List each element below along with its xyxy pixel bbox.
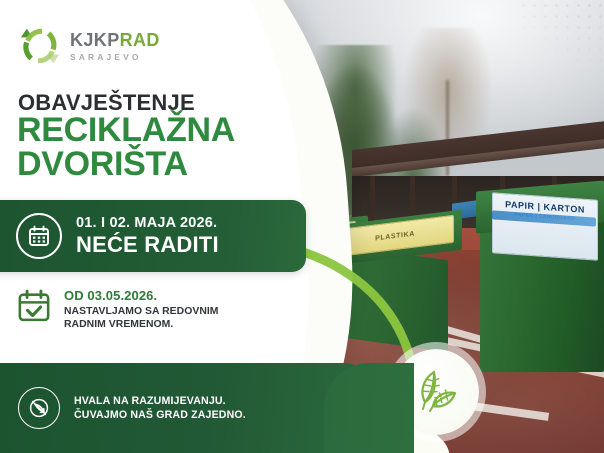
reopening-note-line1: NASTAVLJAMO SA REDOVNIM [64,306,219,319]
brand-city: SARAJEVO [70,53,160,62]
closure-status: NEĆE RADITI [76,233,219,256]
thanks-bar-text: HVALA NA RAZUMIJEVANJU. ČUVAJMO NAŠ GRAD… [74,394,246,423]
recycle-arrows-icon [18,24,62,68]
page-title: RECIKLAŽNA DVORIŠTA [17,114,235,181]
closure-banner-text: 01. I 02. MAJA 2026. NEĆE RADITI [76,216,219,256]
thanks-line2: ČUVAJMO NAŠ GRAD ZAJEDNO. [74,408,246,422]
container-label-plastika-text: PLASTIKA [375,230,415,242]
thanks-bar: HVALA NA RAZUMIJEVANJU. ČUVAJMO NAŠ GRAD… [0,363,370,453]
closure-dates: 01. I 02. MAJA 2026. [76,216,219,231]
calendar-check-icon [16,288,52,324]
page-title-line2: DVORIŠTA [17,148,235,182]
no-waste-circle-icon [18,387,60,429]
reopening-note-line2: RADNIM VREMENOM. [64,319,219,332]
container-label-papir: PAPIR | KARTON PAPER | CARDBOARD [492,192,598,260]
brand-name: KJKPRAD [70,31,160,49]
brand-name-kjkp: KJKP [70,30,120,50]
page-title-line1: RECIKLAŽNA [17,111,235,149]
closure-banner: 01. I 02. MAJA 2026. NEĆE RADITI [0,200,306,272]
brand-logo: KJKPRAD SARAJEVO [18,24,160,68]
reopening-date: OD 03.05.2026. [64,288,219,304]
thanks-line1: HVALA NA RAZUMIJEVANJU. [74,394,246,408]
brand-name-rad: RAD [120,30,160,50]
reopening-info: OD 03.05.2026. NASTAVLJAMO SA REDOVNIM R… [16,288,276,331]
reopening-info-text: OD 03.05.2026. NASTAVLJAMO SA REDOVNIM R… [64,288,219,331]
calendar-icon [16,213,62,259]
poster: PLASTIKA PAPIR | KARTON PAPER | CARDBOAR… [0,0,604,453]
dot-pattern-decoration [518,0,604,78]
brand-logo-text: KJKPRAD SARAJEVO [70,31,160,62]
